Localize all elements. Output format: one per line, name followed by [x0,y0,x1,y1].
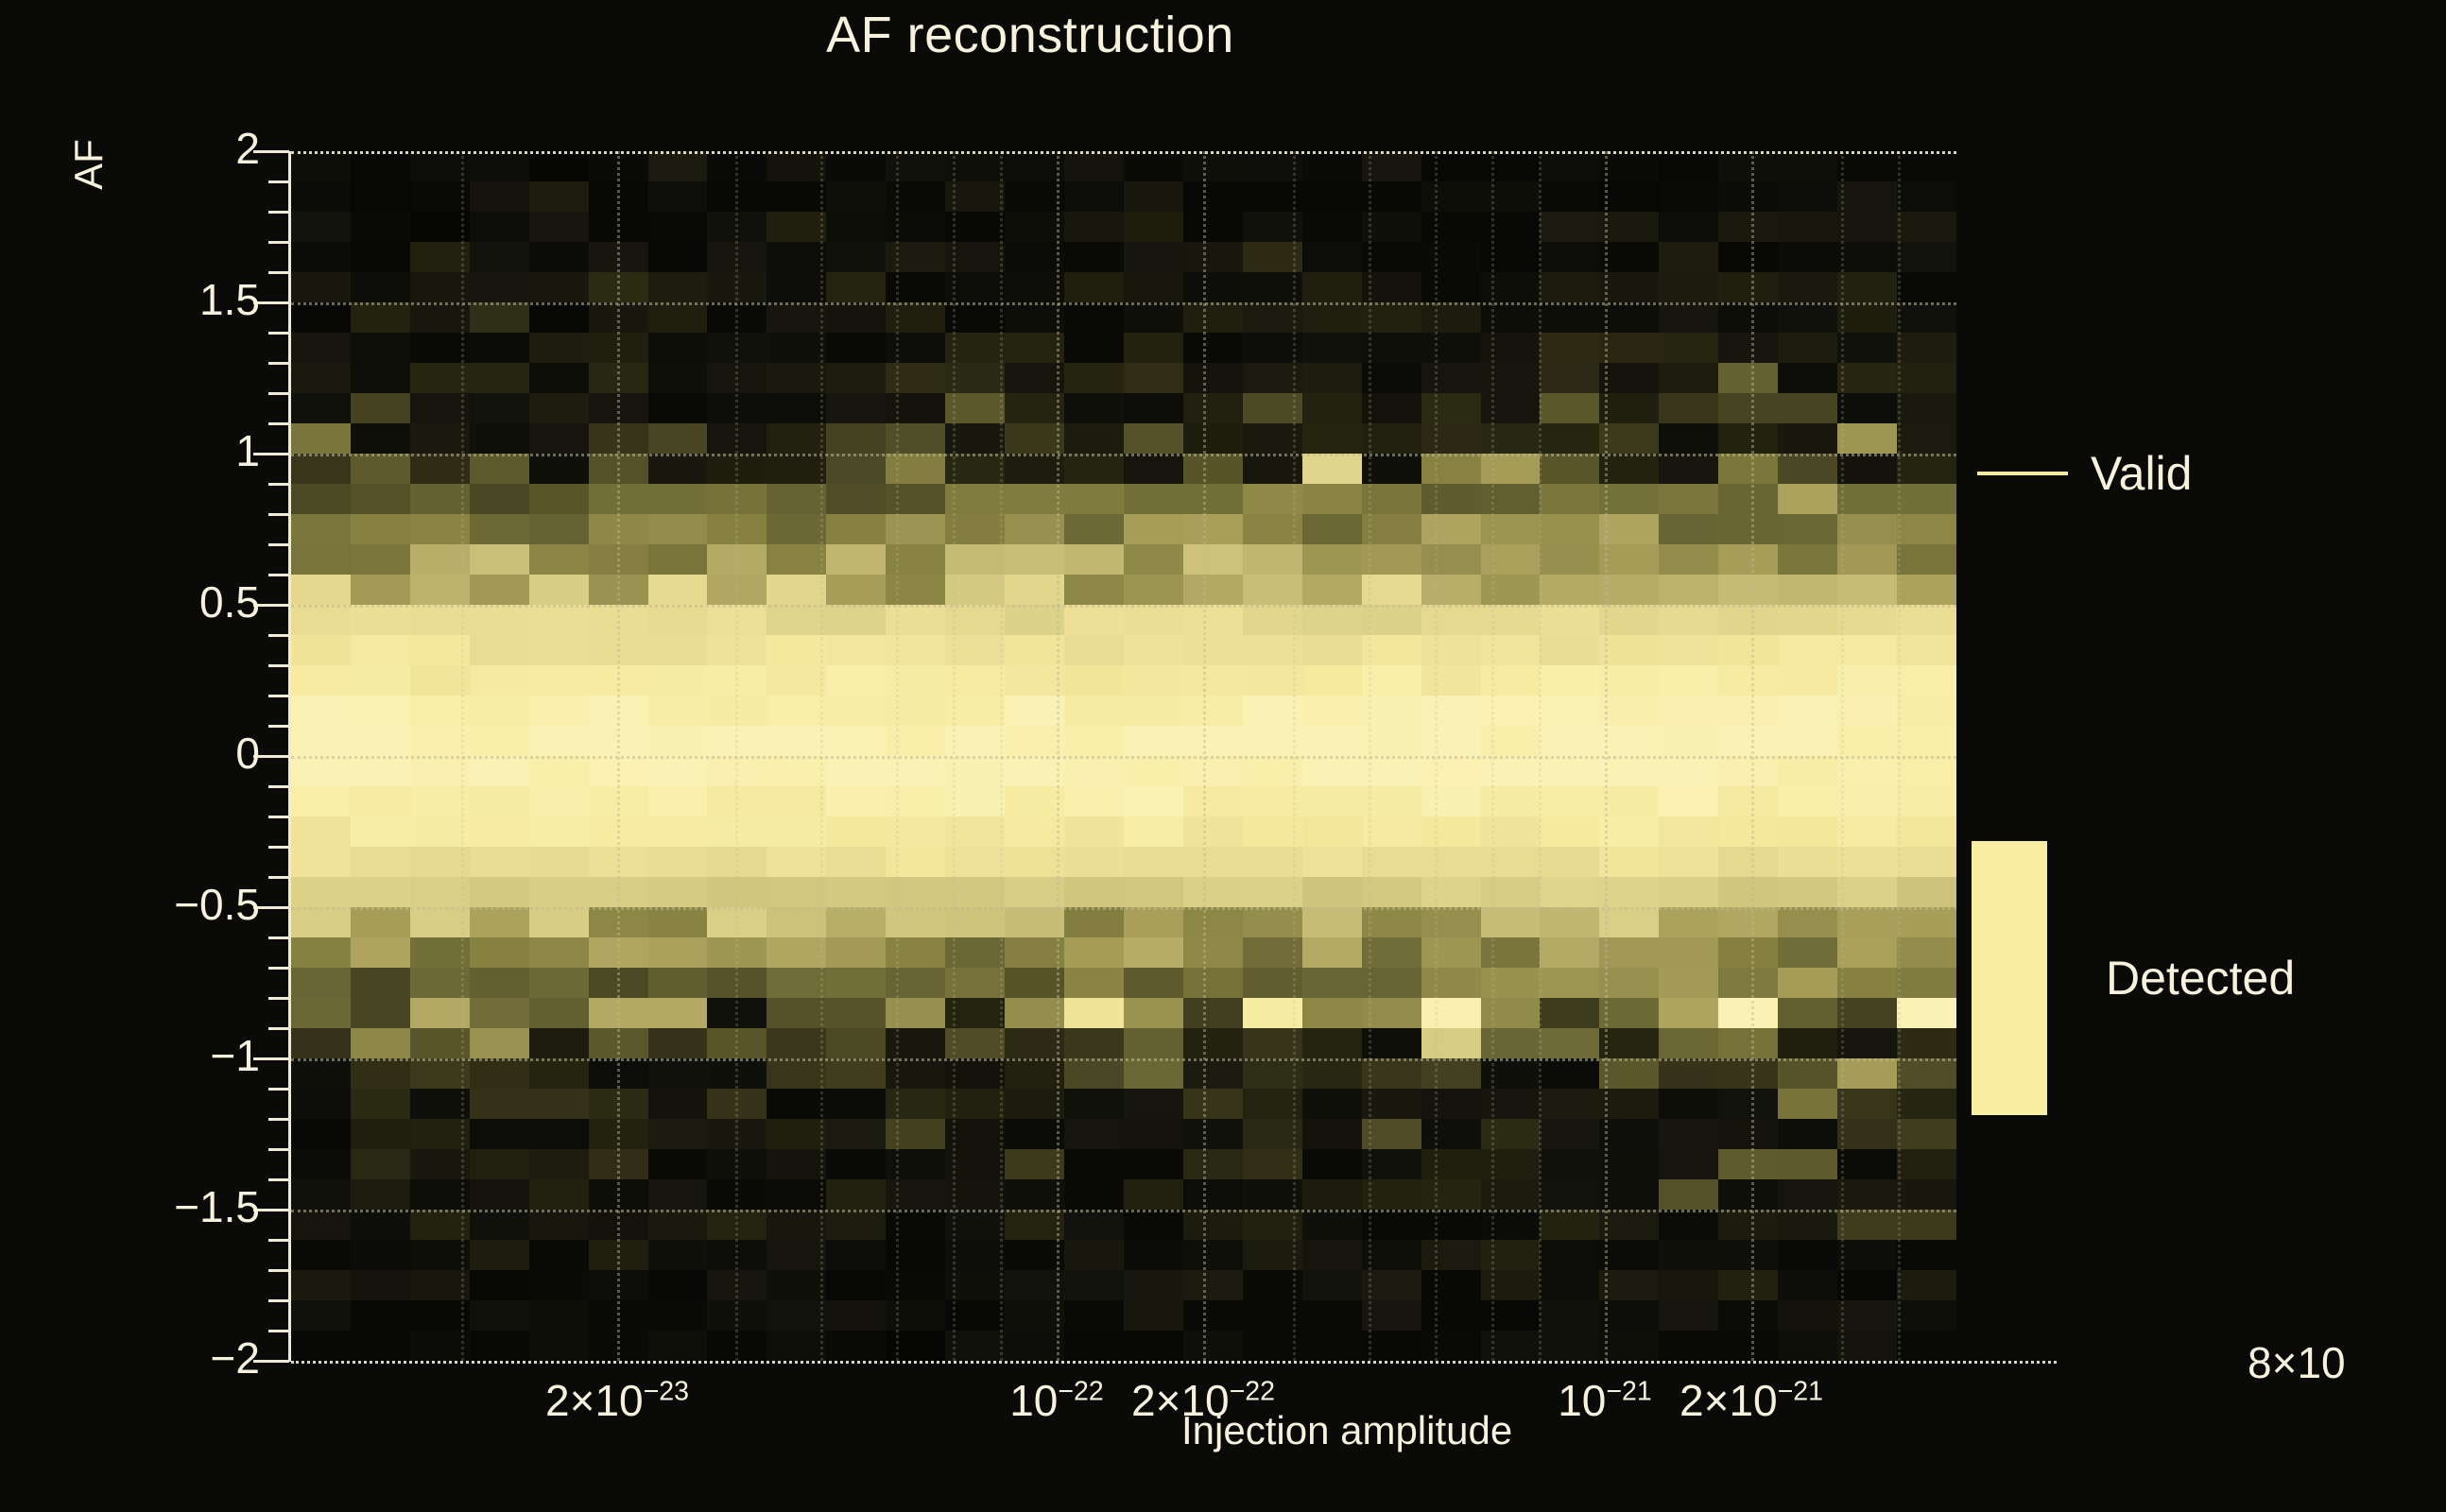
y-axis-minor-tick [268,816,289,818]
heatmap-cell [1659,544,1718,575]
heatmap-cell [1064,544,1124,575]
heatmap-cell [1718,393,1778,423]
heatmap-cell [826,544,886,575]
heatmap-cell [767,363,826,393]
heatmap-cell [1421,514,1481,544]
heatmap-cell [351,181,410,212]
heatmap-cell [1659,1028,1718,1058]
heatmap-cell [826,151,886,181]
chart-canvas: AF reconstruction AF 21.510.50−0.5−1−1.5… [0,0,2446,1512]
heatmap-cell [1421,786,1481,816]
heatmap-cell [1837,1240,1897,1270]
heatmap-cell [470,1028,529,1058]
y-axis-minor-tick [268,1299,289,1302]
heatmap-cell [1481,1089,1541,1119]
heatmap-cell [648,1240,708,1270]
gridline-vertical [1605,151,1608,1361]
heatmap-cell [1124,635,1183,665]
heatmap-cell [1897,998,1956,1028]
heatmap-cell [1302,1240,1362,1270]
heatmap-cell [1540,756,1599,786]
heatmap-cell [351,151,410,181]
heatmap-cell [1005,514,1064,544]
heatmap-cell [1183,151,1243,181]
heatmap-cell [1124,937,1183,968]
heatmap-cell [826,968,886,998]
heatmap-cell [1778,151,1837,181]
heatmap-cell [648,1270,708,1300]
heatmap-cell [1183,1058,1243,1089]
heatmap-cell [351,1300,410,1331]
heatmap-cell [1064,333,1124,363]
heatmap-cell [826,393,886,423]
heatmap-cell [1778,937,1837,968]
heatmap-cell [1124,1089,1183,1119]
heatmap-cell [1064,151,1124,181]
heatmap-cell [826,847,886,877]
heatmap-cell [1659,726,1718,756]
heatmap-cell [291,1089,351,1119]
heatmap-cell [1302,877,1362,907]
heatmap-cell [1718,333,1778,363]
heatmap-cell [1064,393,1124,423]
heatmap-cell [1837,151,1897,181]
heatmap-cell [648,302,708,333]
heatmap-cell [291,302,351,333]
heatmap-cell [886,575,945,605]
heatmap-cell [767,696,826,726]
heatmap-cell [1421,665,1481,696]
heatmap-cell [1778,1300,1837,1331]
heatmap-cell [1599,484,1659,514]
heatmap-cell [886,756,945,786]
y-axis-minor-tick [268,695,289,697]
heatmap-cell [648,575,708,605]
heatmap-cell [1481,786,1541,816]
heatmap-cell [1540,665,1599,696]
gridline-vertical-minor [1293,151,1296,1361]
heatmap-cell [351,544,410,575]
heatmap-cell [1005,1149,1064,1179]
heatmap-cell [1659,847,1718,877]
heatmap-cell [1778,544,1837,575]
heatmap-cell [1837,726,1897,756]
heatmap-cell [1897,1331,1956,1361]
heatmap-cell [1837,937,1897,968]
heatmap-cell [648,756,708,786]
heatmap-cell [1481,1331,1541,1361]
heatmap-cell [886,1089,945,1119]
heatmap-cell [1718,998,1778,1028]
heatmap-cell [1718,575,1778,605]
heatmap-cell [1005,605,1064,635]
heatmap-cell [1005,1089,1064,1119]
heatmap-cell [1837,1089,1897,1119]
heatmap-cell [291,968,351,998]
heatmap-cell [351,847,410,877]
heatmap-cell [826,937,886,968]
heatmap-cell [1064,877,1124,907]
heatmap-cell [1421,756,1481,786]
heatmap-cell [1064,847,1124,877]
heatmap-cell [1005,1028,1064,1058]
heatmap-cell [826,1331,886,1361]
heatmap-cell [1302,605,1362,635]
heatmap-cell [1897,847,1956,877]
heatmap-cell [886,333,945,363]
heatmap-cell [1064,1149,1124,1179]
heatmap-cell [767,272,826,302]
heatmap-cell [1183,665,1243,696]
heatmap-cell [648,1089,708,1119]
heatmap-cell [1481,937,1541,968]
heatmap-cell [886,696,945,726]
heatmap-cell [886,363,945,393]
heatmap-cell [1837,968,1897,998]
heatmap-cell [1897,575,1956,605]
heatmap-cell [1897,605,1956,635]
heatmap-cell [1124,575,1183,605]
heatmap-cell [1718,423,1778,454]
heatmap-cell [767,302,826,333]
heatmap-cell [767,816,826,847]
heatmap-cell [648,242,708,272]
heatmap-cell [1540,181,1599,212]
heatmap-cell [1778,212,1837,242]
heatmap-cell [1540,514,1599,544]
heatmap-cell [1778,816,1837,847]
heatmap-cell [470,907,529,937]
heatmap-cell [886,272,945,302]
heatmap-cell [1183,998,1243,1028]
heatmap-cell [529,847,589,877]
heatmap-cell [1421,1179,1481,1210]
heatmap-cell [1183,1240,1243,1270]
heatmap-cell [826,786,886,816]
heatmap-cell [1421,1119,1481,1149]
heatmap-cell [1837,484,1897,514]
heatmap-cell [1421,847,1481,877]
heatmap-cell [886,423,945,454]
heatmap-cell [1302,665,1362,696]
heatmap-cell [1005,212,1064,242]
heatmap-cell [1540,1028,1599,1058]
heatmap-cell [1778,998,1837,1028]
heatmap-cell [470,1149,529,1179]
heatmap-cell [886,907,945,937]
heatmap-cell [1005,877,1064,907]
heatmap-cell [1481,756,1541,786]
heatmap-cell [648,544,708,575]
heatmap-cell [351,333,410,363]
heatmap-cell [1837,1331,1897,1361]
heatmap-cell [1302,484,1362,514]
heatmap-cell [1718,1179,1778,1210]
heatmap-cell [1837,605,1897,635]
heatmap-cell [1302,302,1362,333]
heatmap-cell [1837,302,1897,333]
heatmap-cell [351,907,410,937]
heatmap-cell [1897,1149,1956,1179]
heatmap-cell [1540,1119,1599,1149]
heatmap-cell [1481,907,1541,937]
heatmap-cell [351,1210,410,1240]
heatmap-cell [1481,423,1541,454]
heatmap-cell [1778,907,1837,937]
heatmap-cell [648,726,708,756]
gridline-vertical-minor [1841,151,1844,1361]
y-axis-minor-tick [268,725,289,728]
heatmap-cell [1837,575,1897,605]
heatmap-cell [1778,393,1837,423]
heatmap-cell [1421,937,1481,968]
heatmap-cell [1481,1240,1541,1270]
heatmap-cell [1897,151,1956,181]
heatmap-cell [1124,181,1183,212]
heatmap-cell [1837,756,1897,786]
heatmap-cell [767,605,826,635]
gridline-vertical [1057,151,1059,1361]
y-axis-minor-tick [268,1239,289,1242]
heatmap-cell [1837,1028,1897,1058]
heatmap-cell [1183,696,1243,726]
gridline-vertical [617,151,620,1361]
heatmap-cell [351,998,410,1028]
heatmap-cell [1183,1179,1243,1210]
heatmap-cell [1421,605,1481,635]
heatmap-cell [529,212,589,242]
heatmap-cell [529,302,589,333]
heatmap-cell [1005,665,1064,696]
heatmap-cell [1599,454,1659,484]
heatmap-cell [1183,363,1243,393]
heatmap-cell [1124,1240,1183,1270]
heatmap-cell [1421,696,1481,726]
heatmap-cell [1718,635,1778,665]
heatmap-cell [1421,544,1481,575]
heatmap-cell [1540,696,1599,726]
heatmap-cell [470,937,529,968]
heatmap-cell [1897,756,1956,786]
heatmap-cell [1005,696,1064,726]
heatmap-cell [1064,1119,1124,1149]
legend-item-detected[interactable]: Detected [1972,841,2295,1115]
heatmap-cell [1540,484,1599,514]
gridline-vertical-minor [735,151,738,1361]
heatmap-cell [1481,1058,1541,1089]
heatmap-cell [1124,1058,1183,1089]
heatmap-cell [1599,1089,1659,1119]
heatmap-cell [1124,272,1183,302]
heatmap-cell [470,181,529,212]
heatmap-cell [1540,302,1599,333]
heatmap-cell [1064,605,1124,635]
heatmap-cell [1421,1028,1481,1058]
heatmap-cell [1302,635,1362,665]
heatmap-cell [1540,877,1599,907]
y-axis-minor-tick [268,392,289,395]
heatmap-cell [1183,393,1243,423]
heatmap-cell [767,1058,826,1089]
heatmap-cell [351,1119,410,1149]
x-axis-line [291,1361,2057,1364]
heatmap-cell [886,816,945,847]
heatmap-cell [1897,363,1956,393]
heatmap-cell [291,937,351,968]
heatmap-cell [1481,877,1541,907]
heatmap-cell [1599,635,1659,665]
heatmap-cell [1183,212,1243,242]
heatmap-cell [1005,272,1064,302]
y-axis-minor-tick [268,1148,289,1151]
heatmap-cell [1599,212,1659,242]
heatmap-cell [1302,726,1362,756]
heatmap-cell [291,363,351,393]
heatmap-cell [1183,575,1243,605]
heatmap-cell [291,1028,351,1058]
heatmap-cell [648,998,708,1028]
heatmap-cell [1837,1058,1897,1089]
heatmap-cell [1599,907,1659,937]
heatmap-cell [1124,514,1183,544]
heatmap-cell [1005,1300,1064,1331]
x-axis-tick-label: 10−22 [1009,1375,1104,1426]
heatmap-cell [1659,242,1718,272]
heatmap-cell [1481,393,1541,423]
legend-item-valid[interactable]: Valid [1977,446,2192,501]
heatmap-cell [1064,302,1124,333]
y-axis-minor-tick [268,1330,289,1332]
heatmap-cell [1659,1119,1718,1149]
heatmap-cell [1540,333,1599,363]
y-axis-minor-tick [268,422,289,425]
heatmap-cell [470,756,529,786]
heatmap-cell [1183,272,1243,302]
heatmap-cell [1302,1028,1362,1058]
heatmap-cell [1481,1300,1541,1331]
heatmap-cell [1421,575,1481,605]
heatmap-cell [351,1179,410,1210]
heatmap-cell [648,393,708,423]
heatmap-cell [1778,1028,1837,1058]
heatmap-cell [648,181,708,212]
heatmap-cell [1183,544,1243,575]
heatmap-cell [1183,937,1243,968]
y-axis-tick-label: 2 [85,127,260,170]
heatmap-cell [291,212,351,242]
heatmap-cell [648,333,708,363]
heatmap-cell [351,423,410,454]
y-axis-minor-tick [268,180,289,183]
heatmap-cell [351,514,410,544]
y-axis-minor-tick [268,967,289,970]
heatmap-cell [648,907,708,937]
heatmap-cell [767,1089,826,1119]
heatmap-cell [826,1179,886,1210]
heatmap-cell [1599,937,1659,968]
heatmap-cell [1718,968,1778,998]
heatmap-cell [470,242,529,272]
heatmap-cell [1302,575,1362,605]
heatmap-cell [470,696,529,726]
y-axis-minor-tick [268,483,289,486]
heatmap-cell [1540,363,1599,393]
heatmap-cell [1302,1058,1362,1089]
heatmap-cell [1837,454,1897,484]
heatmap-cell [1302,514,1362,544]
heatmap-cell [1540,907,1599,937]
heatmap-cell [826,756,886,786]
heatmap-cell [1005,181,1064,212]
heatmap-cell [1778,242,1837,272]
gridline-vertical-minor [1539,151,1542,1361]
heatmap-cell [767,514,826,544]
heatmap-cell [1302,907,1362,937]
heatmap-cell [1481,847,1541,877]
heatmap-cell [1659,363,1718,393]
heatmap-cell [470,423,529,454]
heatmap-cell [529,1179,589,1210]
heatmap-cell [1481,1149,1541,1179]
heatmap-cell [1599,877,1659,907]
heatmap-cell [351,968,410,998]
heatmap-cell [1540,242,1599,272]
heatmap-cell [1064,575,1124,605]
heatmap-cell [767,1028,826,1058]
heatmap-cell [1837,786,1897,816]
heatmap-cell [1659,575,1718,605]
heatmap-cell [1837,1270,1897,1300]
heatmap-cell [1599,1270,1659,1300]
heatmap-cell [1124,363,1183,393]
heatmap-cell [351,696,410,726]
heatmap-cell [1837,1179,1897,1210]
heatmap-cell [1481,363,1541,393]
heatmap-cell [529,454,589,484]
heatmap-cell [1659,907,1718,937]
heatmap-cell [1064,454,1124,484]
heatmap-cell [529,726,589,756]
heatmap-cell [1005,575,1064,605]
x-axis-title: Injection amplitude [1181,1408,1843,1453]
heatmap-cell [1183,786,1243,816]
heatmap-cell [1183,605,1243,635]
heatmap-cell [1302,272,1362,302]
heatmap-cell [1421,816,1481,847]
heatmap-cell [470,1300,529,1331]
heatmap-cell [351,454,410,484]
heatmap-cell [1599,1028,1659,1058]
heatmap-cell [1005,1058,1064,1089]
heatmap-cell [1659,1089,1718,1119]
heatmap-cell [1005,998,1064,1028]
heatmap-cell [1183,514,1243,544]
heatmap-cell [886,1149,945,1179]
heatmap-cell [767,484,826,514]
heatmap-cell [1897,816,1956,847]
heatmap-cell [1778,968,1837,998]
heatmap-cell [1659,756,1718,786]
heatmap-cell [1659,393,1718,423]
heatmap-cell [826,212,886,242]
heatmap-cell [1540,635,1599,665]
heatmap-cell [1599,333,1659,363]
y-axis-minor-tick [268,513,289,516]
heatmap-cell [1421,635,1481,665]
heatmap-cell [1481,544,1541,575]
heatmap-plot-area[interactable] [291,151,1956,1361]
heatmap-cell [1183,907,1243,937]
